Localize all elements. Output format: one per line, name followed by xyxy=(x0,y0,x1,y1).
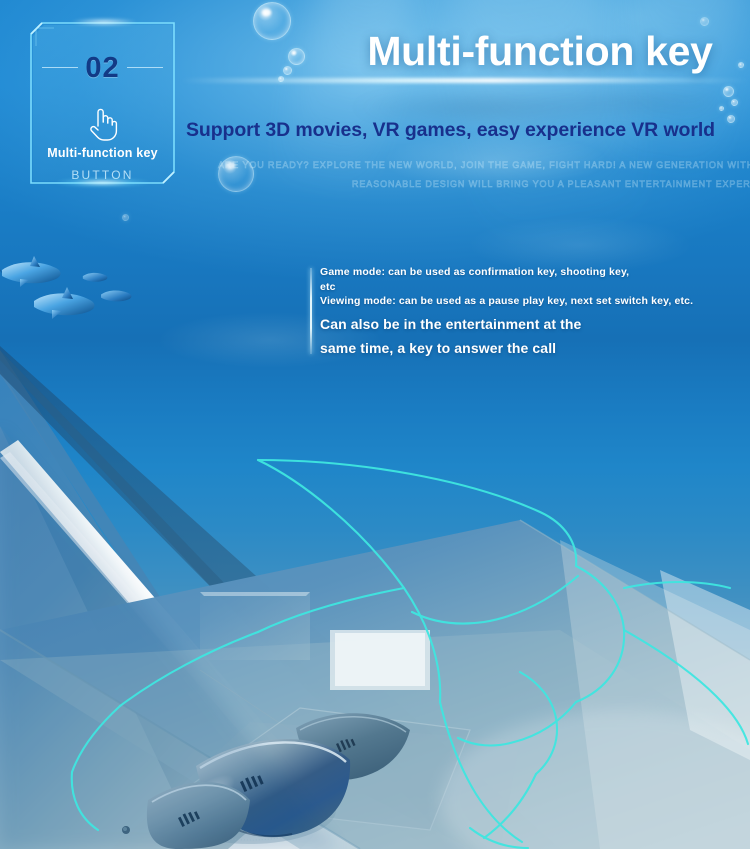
badge-top-glow xyxy=(71,18,138,26)
page-title: Multi-function key xyxy=(340,28,740,75)
vr-headset-render xyxy=(0,330,750,849)
bubble xyxy=(288,48,305,65)
vr-headset-photo xyxy=(0,330,750,849)
callout-line-1: Game mode: can be used as confirmation k… xyxy=(320,266,710,280)
bubble xyxy=(723,86,734,97)
bubble xyxy=(283,66,292,75)
callout-line-3: Viewing mode: can be used as a pause pla… xyxy=(320,295,710,309)
step-badge: 02 Multi-function key BUTTON xyxy=(30,22,175,184)
bubble xyxy=(253,2,291,40)
callout-line-2: etc xyxy=(320,281,710,295)
badge-number: 02 xyxy=(30,52,175,85)
bubble xyxy=(727,115,735,123)
page-subtitle: Support 3D movies, VR games, easy experi… xyxy=(186,119,715,142)
tap-hand-icon xyxy=(30,104,175,147)
watermark-line-2: REASONABLE DESIGN WILL BRING YOU A PLEAS… xyxy=(352,179,750,189)
badge-label: Multi-function key xyxy=(30,146,175,160)
bubble xyxy=(122,214,129,221)
bubble xyxy=(731,99,738,106)
bubble xyxy=(700,17,709,26)
product-promo-banner: 02 Multi-function key BUTTON Multi-funct… xyxy=(0,0,750,849)
watermark-line-1: ARE YOU READY? EXPLORE THE NEW WORLD, JO… xyxy=(218,160,750,170)
badge-bottom-glow xyxy=(56,178,149,187)
dolphin-pod-icon xyxy=(0,246,150,336)
